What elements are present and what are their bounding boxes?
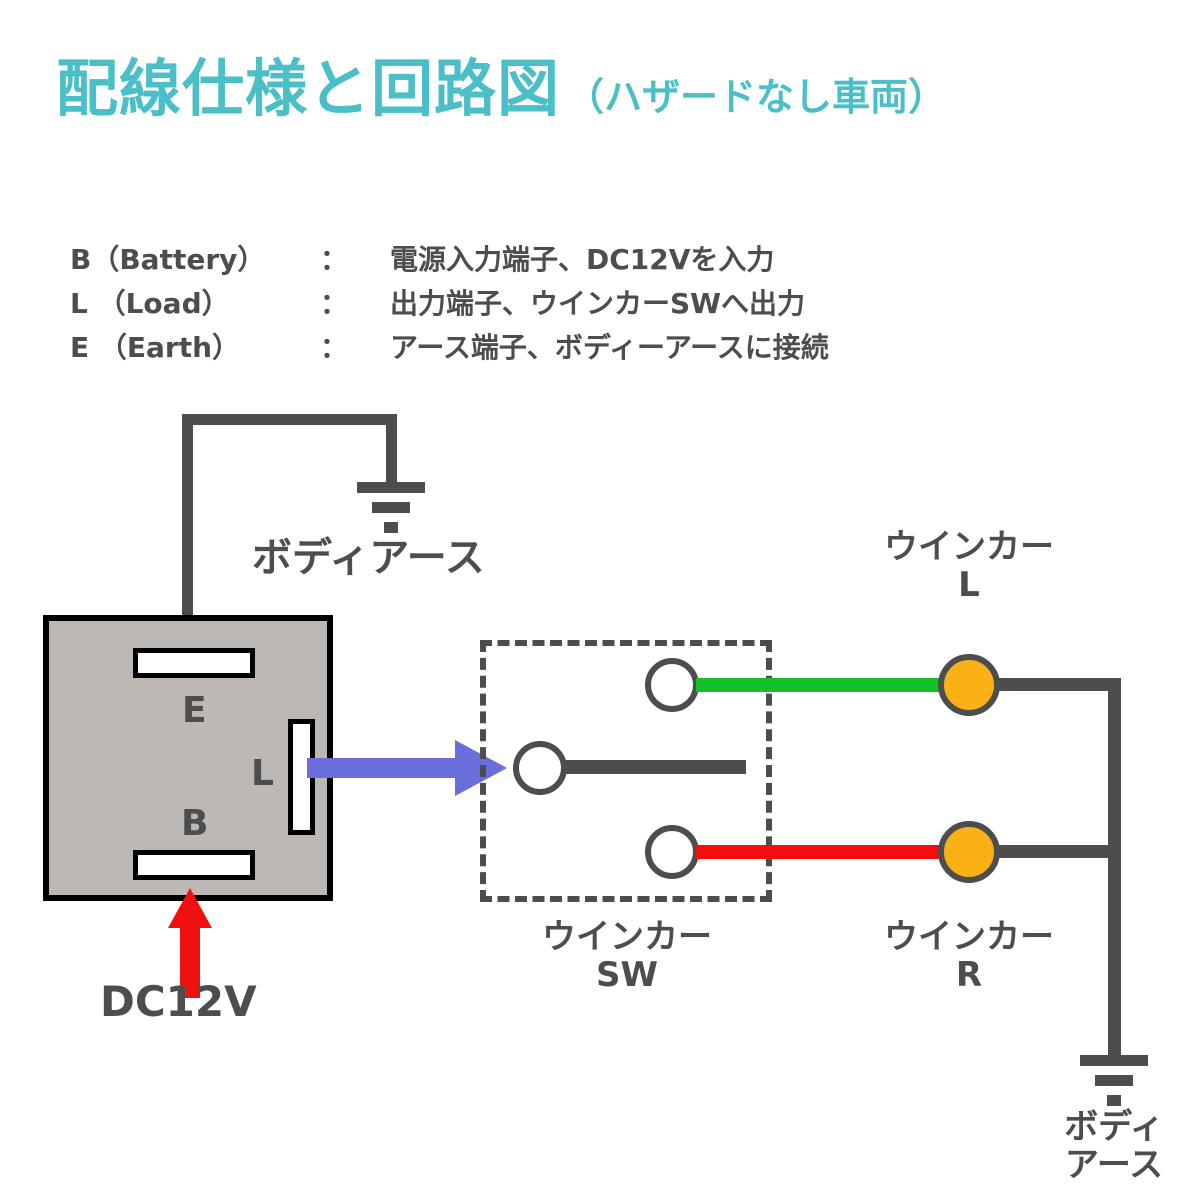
- lamp-right-return-wire: [998, 845, 1120, 858]
- terminal-label-e: E: [182, 693, 207, 729]
- winker-lamp-right-label-line1: ウインカー: [854, 918, 1084, 956]
- ground-label-bottom-line2: アース: [999, 1146, 1200, 1184]
- earth-wire-horizontal-top: [182, 414, 397, 425]
- ground-bar-3: [384, 522, 398, 533]
- lamp-left-return-wire: [998, 678, 1120, 691]
- load-output-arrow: [307, 738, 507, 798]
- terminal-b-contact: [133, 850, 255, 880]
- terminal-label-b: B: [181, 806, 208, 842]
- winker-lamp-left-label: ウインカー L: [854, 528, 1084, 604]
- ground-bar-2: [1095, 1075, 1133, 1086]
- switch-node-common-pole[interactable]: [513, 741, 567, 795]
- ground-label-top: ボディアース: [252, 536, 485, 581]
- ground-label-bottom: ボディ アース: [999, 1108, 1200, 1184]
- winker-lamp-right-label-line2: R: [854, 956, 1084, 994]
- winker-switch-label-line2: SW: [512, 956, 742, 994]
- flasher-relay-body: E L B: [43, 615, 333, 901]
- ground-bar-3: [1107, 1095, 1121, 1106]
- winker-switch-label-line1: ウインカー: [512, 918, 742, 956]
- winker-lamp-right: [938, 821, 1000, 883]
- switch-node-right-terminal[interactable]: [645, 825, 699, 879]
- winker-left-wire: [696, 678, 946, 692]
- winker-lamp-left: [938, 654, 1000, 716]
- ground-bar-1: [1080, 1055, 1148, 1066]
- earth-wire-vertical-right: [386, 414, 397, 484]
- ground-bar-2: [372, 502, 410, 513]
- power-input-label: DC12V: [100, 978, 257, 1025]
- terminal-label-l: L: [251, 756, 274, 792]
- ground-symbol-bottom: [1080, 1055, 1148, 1107]
- winker-switch-label: ウインカー SW: [512, 918, 742, 994]
- winker-lamp-right-label: ウインカー R: [854, 918, 1084, 994]
- switch-node-left-terminal[interactable]: [645, 658, 699, 712]
- ground-symbol-top: [357, 482, 425, 534]
- winker-lamp-left-label-line1: ウインカー: [854, 528, 1084, 566]
- ground-bus-vertical: [1108, 678, 1121, 1060]
- ground-bar-1: [357, 482, 425, 493]
- winker-right-wire: [696, 845, 946, 859]
- ground-label-bottom-line1: ボディ: [999, 1108, 1200, 1146]
- switch-pole-bar: [565, 760, 746, 774]
- winker-lamp-left-label-line2: L: [854, 566, 1084, 604]
- terminal-e-contact: [133, 648, 255, 678]
- circuit-diagram: ボディアース E L B DC12V ウインカー SW ウインカー L: [0, 0, 1200, 1200]
